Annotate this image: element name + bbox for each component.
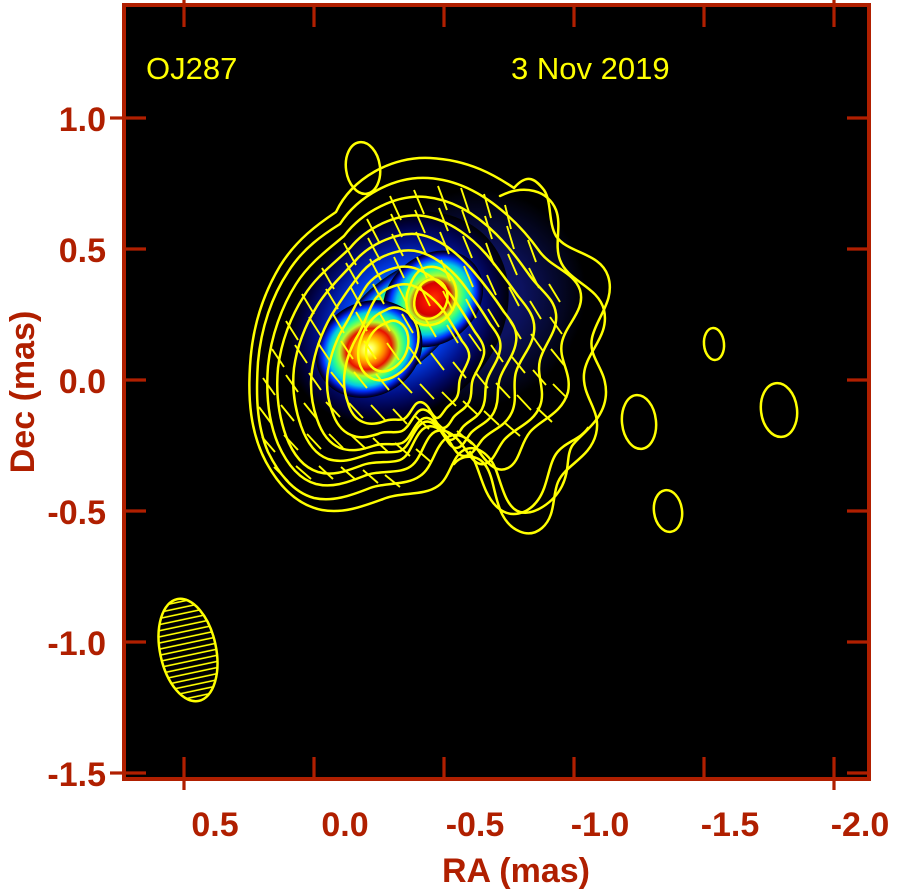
plot-area: [110, 0, 869, 790]
x-tick-label: -1.5: [701, 806, 760, 844]
y-tick-label: 0.5: [59, 232, 106, 270]
x-tick-label: -2.0: [831, 806, 890, 844]
y-tick-label: 1.0: [59, 101, 106, 139]
figure-root: OJ287 3 Nov 2019 1.0 0.5 0.0 -0.5 -1.0 -…: [0, 0, 904, 891]
x-tick-label: -0.5: [446, 806, 505, 844]
y-tick-label: 0.0: [59, 363, 106, 401]
x-tick-label: 0.0: [321, 806, 368, 844]
x-axis-label: RA (mas): [442, 852, 590, 890]
y-tick-label: -0.5: [47, 494, 106, 532]
x-tick-label: 0.5: [191, 806, 238, 844]
source-label: OJ287: [146, 51, 237, 86]
y-tick-label: -1.5: [47, 756, 106, 794]
date-label: 3 Nov 2019: [511, 51, 670, 86]
y-tick-label: -1.0: [47, 625, 106, 663]
x-tick-label: -1.0: [571, 806, 630, 844]
y-axis-label: Dec (mas): [4, 311, 42, 474]
radio-map-figure: OJ287 3 Nov 2019 1.0 0.5 0.0 -0.5 -1.0 -…: [0, 0, 904, 891]
